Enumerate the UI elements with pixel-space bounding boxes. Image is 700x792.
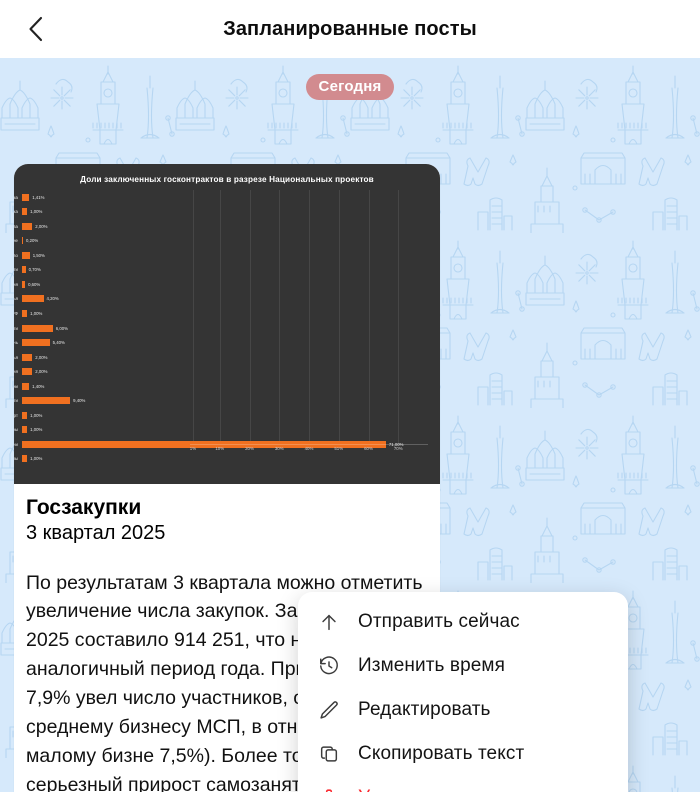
chart-category-label: Экономика данных и цифровая трансформаци… xyxy=(14,224,18,229)
chart-bar xyxy=(22,223,32,230)
chart-bar xyxy=(22,266,26,273)
app-header: Запланированные посты xyxy=(0,0,700,58)
chart-category-label: Средства производства и автоматизация xyxy=(14,282,18,287)
chart-category-label: Эффективная и конкурентная экономика xyxy=(14,209,18,214)
x-axis-tick: 30% xyxy=(275,446,284,451)
chart-category-label: Промышленное обеспечение транспортной мо… xyxy=(14,326,18,331)
chart-value-label: 1,00% xyxy=(30,456,42,461)
chart-value-label: 0,60% xyxy=(28,282,40,287)
chart-title: Доли заключенных госконтрактов в разрезе… xyxy=(22,172,432,190)
menu-item-4[interactable]: Удалить xyxy=(298,776,628,792)
chart-category-label: Кадры xyxy=(14,427,18,432)
chart-value-label: 2,00% xyxy=(35,355,47,360)
chart-bar-row: Кадры1,00% xyxy=(22,423,432,438)
chart-category-label: Развитие космической деятельности РФ xyxy=(14,311,18,316)
x-axis-tick: 10% xyxy=(215,446,224,451)
chart-bar xyxy=(22,252,30,259)
x-axis-tick: 60% xyxy=(364,446,373,451)
menu-item-1[interactable]: Изменить время xyxy=(298,644,628,688)
chart-value-label: 5,40% xyxy=(53,340,65,345)
chart-bar xyxy=(22,368,32,375)
menu-item-label: Изменить время xyxy=(358,655,505,677)
chart-bar xyxy=(22,339,50,346)
pencil-icon xyxy=(316,697,342,723)
x-axis-tick: 1% xyxy=(190,446,196,451)
chart-bar-row: Семья4,20% xyxy=(22,292,432,307)
chart-category-label: Туризм и гостеприимство xyxy=(14,253,18,258)
chart-bar xyxy=(22,194,29,201)
menu-item-label: Скопировать текст xyxy=(358,743,524,765)
chart-value-label: 1,50% xyxy=(33,253,45,258)
chart-value-label: 1,41% xyxy=(32,195,44,200)
page-title: Запланированные посты xyxy=(223,18,477,41)
menu-item-label: Удалить xyxy=(358,787,431,792)
chart-bar xyxy=(22,426,27,433)
arrow-up-icon xyxy=(316,609,342,635)
chart-category-label: Международная кооперация и экспорт xyxy=(14,413,18,418)
chat-area: Сегодня Доли заключенных госконтрактов в… xyxy=(0,58,700,792)
menu-item-label: Редактировать xyxy=(358,699,491,721)
chart-bar-row: Международная кооперация и экспорт1,00% xyxy=(22,408,432,423)
chart-bar-row: Новые материалы и химия2,00% xyxy=(22,364,432,379)
chart-value-label: 2,00% xyxy=(35,369,47,374)
chart-bar-row: Новые технологии сбережения здоровья2,00… xyxy=(22,350,432,365)
post-title: Госзакупки xyxy=(26,496,428,520)
x-axis-line xyxy=(190,444,428,445)
chart-category-label: Продолжительная и активная жизнь xyxy=(14,340,18,345)
chart-bar xyxy=(22,412,27,419)
chart-value-label: 1,40% xyxy=(32,384,44,389)
chart-category-label: Инфраструктура для жизни xyxy=(14,442,18,447)
chart-category-label: Экологическое благополучие xyxy=(14,238,18,243)
chart-bar xyxy=(22,310,27,317)
chart-category-label: Семья xyxy=(14,296,18,301)
chart-plot-area: Эффективная транспортная система1,41%Эфф… xyxy=(22,190,432,466)
chart-category-label: Новые атомные и энергетические технологи… xyxy=(14,384,18,389)
chart-bar-row: Развитие космической деятельности РФ1,00… xyxy=(22,306,432,321)
chart-category-label: Новые технологии сбережения здоровья xyxy=(14,355,18,360)
chart-bar-row: Экономика данных и цифровая трансформаци… xyxy=(22,219,432,234)
chart-bar-row: Эффективная транспортная система1,41% xyxy=(22,190,432,205)
chart-bar-row: Молодежь и дети9,40% xyxy=(22,393,432,408)
date-separator: Сегодня xyxy=(0,58,700,100)
chart-value-label: 9,40% xyxy=(73,398,85,403)
chart-bar-row: Продолжительная и активная жизнь5,40% xyxy=(22,335,432,350)
clock-rewind-icon xyxy=(316,653,342,679)
menu-item-0[interactable]: Отправить сейчас xyxy=(298,600,628,644)
chart-bar-row: Средства производства и автоматизация0,6… xyxy=(22,277,432,292)
chart-bar xyxy=(22,455,27,462)
chart-bar-row: Туризм и гостеприимство1,50% xyxy=(22,248,432,263)
chart-value-label: 0,70% xyxy=(29,267,41,272)
chart-bar-row: Промышленное обеспечение транспортной мо… xyxy=(22,321,432,336)
x-axis-tick: 20% xyxy=(245,446,254,451)
chevron-left-icon xyxy=(26,15,46,43)
x-axis-tick: 40% xyxy=(305,446,314,451)
copy-icon xyxy=(316,741,342,767)
post-subtitle: 3 квартал 2025 xyxy=(26,521,428,545)
date-badge: Сегодня xyxy=(306,74,395,100)
chart-bar xyxy=(22,295,44,302)
chart-value-label: 1,00% xyxy=(30,427,42,432)
chart-bars: Эффективная транспортная система1,41%Эфф… xyxy=(22,190,432,466)
menu-item-label: Отправить сейчас xyxy=(358,611,520,633)
chart-value-label: 4,20% xyxy=(47,296,59,301)
back-button[interactable] xyxy=(18,11,54,47)
chart-category-label: Эффективная транспортная система xyxy=(14,195,18,200)
chart-bar-row: Экологическое благополучие0,20% xyxy=(22,234,432,249)
chart-category-label: Беспилотные авиационные системы xyxy=(14,456,18,461)
chart-bar xyxy=(22,325,53,332)
chart-category-label: Новые материалы и химия xyxy=(14,369,18,374)
menu-item-3[interactable]: Скопировать текст xyxy=(298,732,628,776)
chart-image[interactable]: Доли заключенных госконтрактов в разрезе… xyxy=(14,164,440,484)
chart-category-label: Технологическое обеспечение продовольств… xyxy=(14,267,18,272)
chart-x-axis: 1%10%20%30%40%51%60%70% xyxy=(190,446,428,464)
chart-bar-row: Технологическое обеспечение продовольств… xyxy=(22,263,432,278)
chart-value-label: 2,00% xyxy=(35,224,47,229)
chart-bar xyxy=(22,354,32,361)
chart-bar-row: Новые атомные и энергетические технологи… xyxy=(22,379,432,394)
chart-value-label: 1,00% xyxy=(30,209,42,214)
chart-bar xyxy=(22,281,25,288)
chart-category-label: Молодежь и дети xyxy=(14,398,18,403)
trash-icon xyxy=(316,785,342,792)
chart-value-label: 1,00% xyxy=(30,413,42,418)
chart-value-label: 6,00% xyxy=(56,326,68,331)
context-menu[interactable]: Отправить сейчасИзменить времяРедактиров… xyxy=(298,592,628,792)
chart-value-label: 1,00% xyxy=(30,311,42,316)
chart-bar xyxy=(22,383,29,390)
x-axis-tick: 51% xyxy=(334,446,343,451)
chart-bar-row: Эффективная и конкурентная экономика1,00… xyxy=(22,205,432,220)
chart-value-label: 0,20% xyxy=(26,238,38,243)
menu-item-2[interactable]: Редактировать xyxy=(298,688,628,732)
chart-bar xyxy=(22,397,70,404)
x-axis-tick: 70% xyxy=(394,446,403,451)
chart-bar xyxy=(22,237,23,244)
chart-bar xyxy=(22,208,27,215)
